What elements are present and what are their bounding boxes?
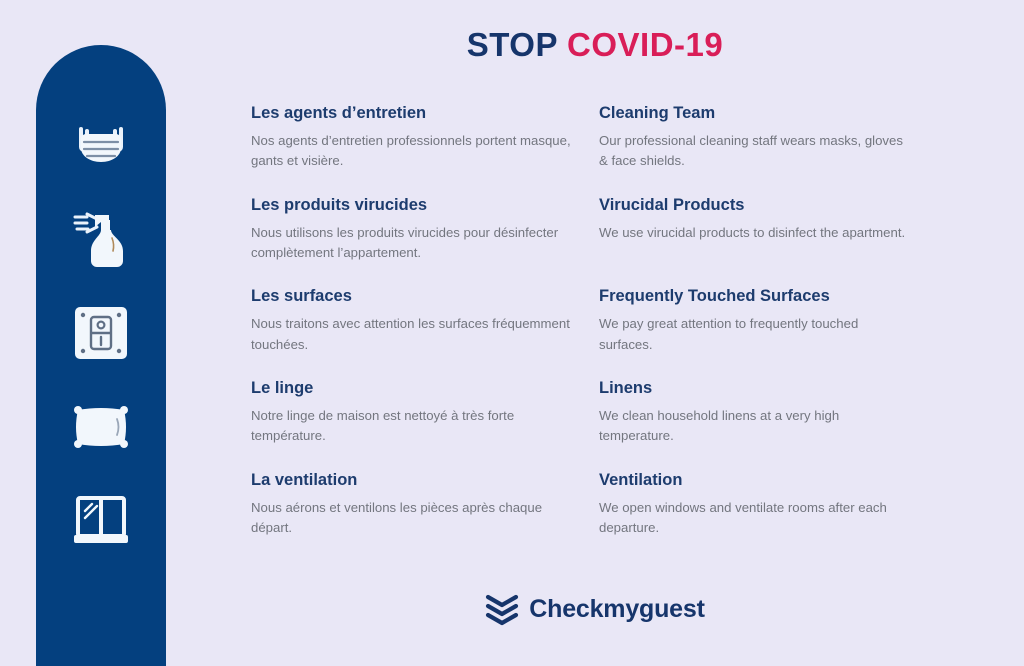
icon-sidebar <box>36 45 166 666</box>
measure-desc-en: We open windows and ventilate rooms afte… <box>599 498 911 539</box>
measure-desc-en: We pay great attention to frequently tou… <box>599 314 911 355</box>
measure-title-fr: Les produits virucides <box>251 196 571 216</box>
measure-fr: Les agents d’entretien Nos agents d’entr… <box>251 104 599 172</box>
measure-fr: Le linge Notre linge de maison est netto… <box>251 379 599 447</box>
measure-title-en: Linens <box>599 379 911 399</box>
measure-desc-en: We clean household linens at a very high… <box>599 406 911 447</box>
measure-fr: Les surfaces Nous traitons avec attentio… <box>251 287 599 355</box>
measure-title-en: Ventilation <box>599 471 911 491</box>
measure-fr: La ventilation Nous aérons et ventilons … <box>251 471 599 539</box>
measure-row: La ventilation Nous aérons et ventilons … <box>251 471 911 539</box>
measure-title-en: Virucidal Products <box>599 196 911 216</box>
measure-en: Cleaning Team Our professional cleaning … <box>599 104 911 172</box>
pillow-icon <box>69 395 133 459</box>
measure-title-en: Frequently Touched Surfaces <box>599 287 911 307</box>
measure-en: Virucidal Products We use virucidal prod… <box>599 196 911 264</box>
face-mask-icon <box>69 113 133 177</box>
page-title: STOP COVID-19 <box>166 26 1024 64</box>
measure-desc-fr: Nous traitons avec attention les surface… <box>251 314 571 355</box>
measure-desc-fr: Notre linge de maison est nettoyé à très… <box>251 406 571 447</box>
title-accent: COVID-19 <box>567 26 723 63</box>
measure-title-en: Cleaning Team <box>599 104 911 124</box>
measure-en: Frequently Touched Surfaces We pay great… <box>599 287 911 355</box>
measure-en: Linens We clean household linens at a ve… <box>599 379 911 447</box>
brand-name: Checkmyguest <box>529 595 704 624</box>
measure-title-fr: La ventilation <box>251 471 571 491</box>
measure-desc-en: We use virucidal products to disinfect t… <box>599 223 911 243</box>
measure-row: Les produits virucides Nous utilisons le… <box>251 196 911 264</box>
light-switch-icon <box>69 301 133 365</box>
measure-en: Ventilation We open windows and ventilat… <box>599 471 911 539</box>
measure-desc-fr: Nous aérons et ventilons les pièces aprè… <box>251 498 571 539</box>
measure-fr: Les produits virucides Nous utilisons le… <box>251 196 599 264</box>
title-primary: STOP <box>467 26 558 63</box>
measure-desc-fr: Nos agents d’entretien professionnels po… <box>251 131 571 172</box>
measure-desc-en: Our professional cleaning staff wears ma… <box>599 131 911 172</box>
brand-footer: Checkmyguest <box>166 592 1024 626</box>
measure-desc-fr: Nous utilisons les produits virucides po… <box>251 223 571 264</box>
measures-list: Les agents d’entretien Nos agents d’entr… <box>251 104 911 563</box>
measure-title-fr: Les surfaces <box>251 287 571 307</box>
measure-row: Le linge Notre linge de maison est netto… <box>251 379 911 447</box>
measure-title-fr: Le linge <box>251 379 571 399</box>
measure-row: Les agents d’entretien Nos agents d’entr… <box>251 104 911 172</box>
measure-row: Les surfaces Nous traitons avec attentio… <box>251 287 911 355</box>
spray-bottle-icon <box>69 207 133 271</box>
triple-chevron-icon <box>485 592 519 626</box>
window-icon <box>69 489 133 553</box>
measure-title-fr: Les agents d’entretien <box>251 104 571 124</box>
